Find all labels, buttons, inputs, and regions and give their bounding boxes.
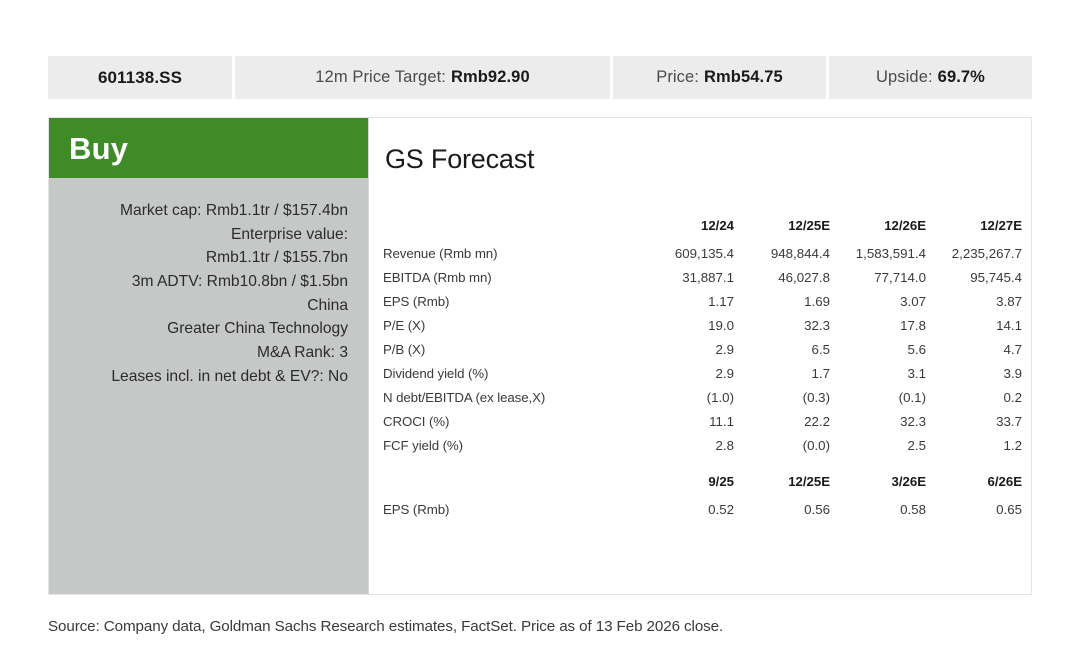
quarterly-eps-table: 9/25 12/25E 3/26E 6/26E EPS (Rmb) 0.52 0… <box>383 470 1022 522</box>
column-header: 12/26E <box>830 214 926 242</box>
ticker-cell: 601138.SS <box>48 56 232 99</box>
table-row: P/B (X) 2.9 6.5 5.6 4.7 <box>383 338 1022 362</box>
column-header: 12/27E <box>926 214 1022 242</box>
row-label: EPS (Rmb) <box>383 498 638 522</box>
row-value: (0.1) <box>830 386 926 410</box>
row-value: 14.1 <box>926 314 1022 338</box>
row-value: 32.3 <box>830 410 926 434</box>
row-value: 3.07 <box>830 290 926 314</box>
table-row: EBITDA (Rmb mn) 31,887.1 46,027.8 77,714… <box>383 266 1022 290</box>
metric-column-header <box>383 470 638 498</box>
row-value: (0.3) <box>734 386 830 410</box>
column-header: 12/25E <box>734 214 830 242</box>
ticker-symbol: 601138.SS <box>98 68 182 88</box>
price-cell: Price: Rmb54.75 <box>613 56 826 99</box>
row-value: 609,135.4 <box>638 242 734 266</box>
row-label: FCF yield (%) <box>383 434 638 458</box>
table-row: Dividend yield (%) 2.9 1.7 3.1 3.9 <box>383 362 1022 386</box>
metric-column-header <box>383 214 638 242</box>
row-value: 3.9 <box>926 362 1022 386</box>
annual-forecast-table: 12/24 12/25E 12/26E 12/27E Revenue (Rmb … <box>383 214 1022 458</box>
row-value: 2.5 <box>830 434 926 458</box>
row-value: 17.8 <box>830 314 926 338</box>
row-value: 0.58 <box>830 498 926 522</box>
row-value: 2.9 <box>638 338 734 362</box>
row-value: 46,027.8 <box>734 266 830 290</box>
fact-country: China <box>63 294 348 318</box>
company-facts-list: Market cap: Rmb1.1tr / $157.4bn Enterpri… <box>49 178 368 389</box>
price-value: Rmb54.75 <box>704 68 783 87</box>
upside-value: 69.7% <box>938 68 985 87</box>
fact-enterprise-value: Rmb1.1tr / $155.7bn <box>63 246 348 270</box>
row-value: 3.1 <box>830 362 926 386</box>
fact-market-cap: Market cap: Rmb1.1tr / $157.4bn <box>63 199 348 223</box>
row-value: 1.2 <box>926 434 1022 458</box>
price-target-label: 12m Price Target: <box>315 68 446 87</box>
row-value: 4.7 <box>926 338 1022 362</box>
fact-leases: Leases incl. in net debt & EV?: No <box>63 365 348 389</box>
source-footnote: Source: Company data, Goldman Sachs Rese… <box>48 618 723 635</box>
forecast-card: Buy Market cap: Rmb1.1tr / $157.4bn Ente… <box>48 117 1032 595</box>
row-label: P/B (X) <box>383 338 638 362</box>
row-label: CROCI (%) <box>383 410 638 434</box>
price-label: Price: <box>656 68 699 87</box>
row-value: 22.2 <box>734 410 830 434</box>
row-value: 1.69 <box>734 290 830 314</box>
price-target-cell: 12m Price Target: Rmb92.90 <box>235 56 610 99</box>
row-value: 0.2 <box>926 386 1022 410</box>
row-label: P/E (X) <box>383 314 638 338</box>
report-summary-page: 601138.SS 12m Price Target: Rmb92.90 Pri… <box>0 0 1080 672</box>
table-header-row: 9/25 12/25E 3/26E 6/26E <box>383 470 1022 498</box>
row-value: 2,235,267.7 <box>926 242 1022 266</box>
column-header: 12/24 <box>638 214 734 242</box>
price-target-value: Rmb92.90 <box>451 68 530 87</box>
row-value: 33.7 <box>926 410 1022 434</box>
column-header: 3/26E <box>830 470 926 498</box>
table-row: EPS (Rmb) 1.17 1.69 3.07 3.87 <box>383 290 1022 314</box>
row-value: (0.0) <box>734 434 830 458</box>
table-row: N debt/EBITDA (ex lease,X) (1.0) (0.3) (… <box>383 386 1022 410</box>
row-value: 2.9 <box>638 362 734 386</box>
row-value: 11.1 <box>638 410 734 434</box>
column-header: 6/26E <box>926 470 1022 498</box>
rating-label: Buy <box>69 133 128 164</box>
row-value: 948,844.4 <box>734 242 830 266</box>
panel-title: GS Forecast <box>385 146 534 173</box>
table-row: CROCI (%) 11.1 22.2 32.3 33.7 <box>383 410 1022 434</box>
row-label: Revenue (Rmb mn) <box>383 242 638 266</box>
upside-cell: Upside: 69.7% <box>829 56 1032 99</box>
row-value: 0.56 <box>734 498 830 522</box>
fact-sector: Greater China Technology <box>63 317 348 341</box>
table-header-row: 12/24 12/25E 12/26E 12/27E <box>383 214 1022 242</box>
upside-label: Upside: <box>876 68 933 87</box>
row-value: 77,714.0 <box>830 266 926 290</box>
row-value: 2.8 <box>638 434 734 458</box>
table-row: Revenue (Rmb mn) 609,135.4 948,844.4 1,5… <box>383 242 1022 266</box>
rating-banner: Buy <box>49 118 368 178</box>
fact-enterprise-value-label: Enterprise value: <box>63 223 348 247</box>
table-row: EPS (Rmb) 0.52 0.56 0.58 0.65 <box>383 498 1022 522</box>
row-label: EBITDA (Rmb mn) <box>383 266 638 290</box>
row-value: (1.0) <box>638 386 734 410</box>
quote-header-bar: 601138.SS 12m Price Target: Rmb92.90 Pri… <box>48 56 1032 99</box>
row-value: 0.65 <box>926 498 1022 522</box>
row-value: 32.3 <box>734 314 830 338</box>
row-value: 5.6 <box>830 338 926 362</box>
row-value: 1.7 <box>734 362 830 386</box>
row-label: EPS (Rmb) <box>383 290 638 314</box>
row-value: 31,887.1 <box>638 266 734 290</box>
row-value: 3.87 <box>926 290 1022 314</box>
row-value: 19.0 <box>638 314 734 338</box>
row-value: 6.5 <box>734 338 830 362</box>
column-header: 9/25 <box>638 470 734 498</box>
row-label: N debt/EBITDA (ex lease,X) <box>383 386 638 410</box>
row-value: 1.17 <box>638 290 734 314</box>
row-value: 1,583,591.4 <box>830 242 926 266</box>
row-value: 95,745.4 <box>926 266 1022 290</box>
row-value: 0.52 <box>638 498 734 522</box>
company-sidebar: Buy Market cap: Rmb1.1tr / $157.4bn Ente… <box>49 118 368 594</box>
table-row: FCF yield (%) 2.8 (0.0) 2.5 1.2 <box>383 434 1022 458</box>
fact-adtv: 3m ADTV: Rmb10.8bn / $1.5bn <box>63 270 348 294</box>
forecast-panel: GS Forecast 12/24 12/25E 12/26E 12/27E R… <box>368 118 1031 594</box>
column-header: 12/25E <box>734 470 830 498</box>
row-label: Dividend yield (%) <box>383 362 638 386</box>
table-row: P/E (X) 19.0 32.3 17.8 14.1 <box>383 314 1022 338</box>
fact-ma-rank: M&A Rank: 3 <box>63 341 348 365</box>
